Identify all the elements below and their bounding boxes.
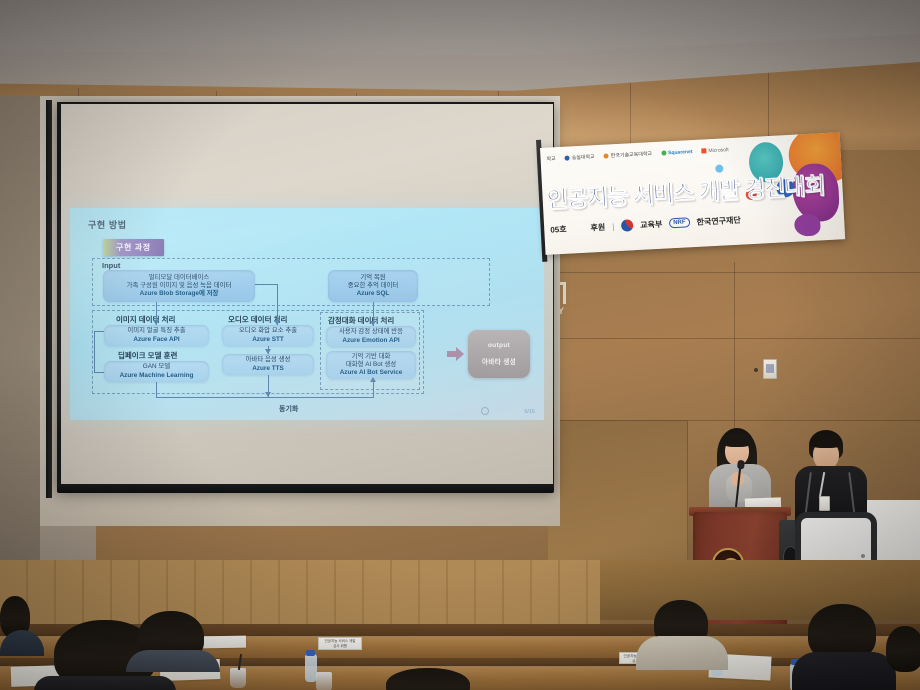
connector-arrow [265,349,271,354]
connector-arrow [370,377,376,382]
nrf-logo-icon: NRF [669,217,690,228]
box-line: 가족 구성원 이미지 및 음성 녹음 데이터 [127,282,232,290]
logo-item: 숭실대학교 [565,153,595,162]
slide-title: 구현 방법 [88,218,127,231]
banner-subline: 05호 후원 | 교육부 NRF 한국연구재단 [550,214,741,236]
box-service: Azure STT [252,336,284,344]
handout [200,636,246,649]
presenter-copresenter [795,430,867,522]
box-line: 이미지 얼굴 특징 추출 [127,327,185,335]
input-box-memory-sql: 기억 복원 중요한 추억 데이터 Azure SQL [328,270,418,302]
government-emblem-icon [621,219,634,232]
box-service: Azure TTS [252,365,284,373]
box-line: 사용자 감정 상태에 반응 [339,328,403,336]
logo-item: 한국기술교육대학교 [604,150,653,160]
box-line: 멀티모달 데이터베이스 [149,274,210,282]
sync-bus [156,397,374,398]
nameplate: 인공지능 서비스 개발 심사 위원 [318,637,362,650]
input-box-multimodal-db: 멀티모달 데이터베이스 가족 구성원 이미지 및 음성 녹음 데이터 Azure… [103,270,255,302]
audience-body [792,652,896,690]
logo-item: 학교 [546,155,556,162]
slide-logo-icon [481,407,489,415]
badge-card [819,496,830,511]
sponsor-moe: 교육부 [640,218,663,230]
box-service: Azure Emotion API [342,337,399,345]
presentation-slide: 구현 방법 구현 과정 Input 멀티모달 데이터베이스 가족 구성원 이미지… [70,208,544,420]
connector-arrow [274,320,280,325]
output-arrow-icon [447,347,464,360]
logo-dot-icon [565,155,570,160]
output-box: output 아바타 생성 [468,330,530,378]
box-audio-tts: 아바타 음성 생성 Azure TTS [222,354,314,375]
sync-label: 동기화 [279,404,298,414]
bottle-cap [306,650,315,656]
logo-label: Squarenet [668,149,693,156]
banner-separator: | [612,222,615,231]
iced-coffee-cup [316,672,332,690]
hair-fringe [722,433,752,447]
output-label: output [488,342,510,349]
audience-head [886,626,920,672]
event-banner: 학교 숭실대학교 한국기술교육대학교 Squarenet Microsoft 인… [540,132,845,255]
sponsor-nrf: 한국연구재단 [696,214,741,227]
logo-label: 학교 [546,155,556,162]
box-line: 중요한 추억 데이터 [348,282,399,290]
logo-dot-icon [661,150,666,155]
box-line: 기억 기반 대화 [352,353,391,361]
box-ai-bot-service: 기억 기반 대화 대화형 AI Bot 생성 Azure AI Bot Serv… [326,351,416,379]
hair-fringe [810,435,842,448]
audience-body [126,650,220,672]
box-audio-stt: 오디오 화압 요소 추출 Azure STT [222,325,314,346]
connector-arrow [370,321,376,326]
slide-section-badge: 구현 과정 [103,239,164,256]
box-emotion-api: 사용자 감정 상태에 반응 Azure Emotion API [326,326,416,347]
box-line: 기억 복원 [360,274,385,282]
connector-loop [94,331,95,373]
screen-left-rod [46,100,52,498]
screen-bottom-bar [57,484,554,493]
lower-wood-wall [0,560,600,630]
iced-coffee-cup [230,668,246,688]
monitor-indicator-icon [861,554,865,558]
audience-body [34,676,176,690]
image-processing-label: 이미지 데이터 처리 [116,314,175,325]
input-group-label: Input [102,261,120,270]
logo-dot-icon [604,153,609,158]
connector-loop [94,331,104,332]
box-line: 아바타 음성 생성 [246,356,291,364]
output-value: 아바타 생성 [482,356,516,366]
wall-screw [754,368,758,372]
box-line: 오디오 화압 요소 추출 [239,327,297,335]
logo-label: 한국기술교육대학교 [611,150,653,159]
banner-room: 05호 [550,223,567,235]
box-image-face-extract: 이미지 얼굴 특징 추출 Azure Face API [104,325,209,346]
connector [156,382,157,397]
logo-item: Microsoft [701,147,729,154]
connector [277,284,278,325]
slide-page-number: 9/16 [524,409,535,415]
box-service: Azure Blob Storage에 저장 [140,290,219,298]
nameplate-line: 심사 위원 [319,644,361,649]
logo-label: Microsoft [708,147,729,154]
box-gan-model: GAN 모델 Azure Machine Learning [104,361,209,382]
emotion-processing-label: 감정대화 데이터 처리 [328,315,394,326]
connector [255,284,277,285]
logo-dot-icon [701,148,706,153]
box-service: Azure SQL [357,290,390,298]
banner-title: 인공지능 서비스 개발 경진대회 [546,166,826,215]
box-service: Azure Machine Learning [120,372,194,380]
audience-body [636,636,728,670]
box-line: GAN 모델 [143,363,170,371]
left-wall-edge [0,96,40,616]
light-switch[interactable] [763,359,777,379]
box-service: Azure Face API [133,336,179,344]
auditorium-photo: ITY 구현 방법 구현 과정 Input 멀티모달 데이터베이스 가족 구성원… [0,0,920,690]
logo-label: 숭실대학교 [572,153,595,161]
logo-item: Squarenet [661,149,693,157]
box-line: 대화형 AI Bot 생성 [346,361,396,369]
connector-loop [94,372,104,373]
connector-arrow [153,320,159,325]
deepfake-training-label: 딥페이크 모델 훈련 [118,350,177,361]
banner-sponsor-label: 후원 [590,221,605,233]
